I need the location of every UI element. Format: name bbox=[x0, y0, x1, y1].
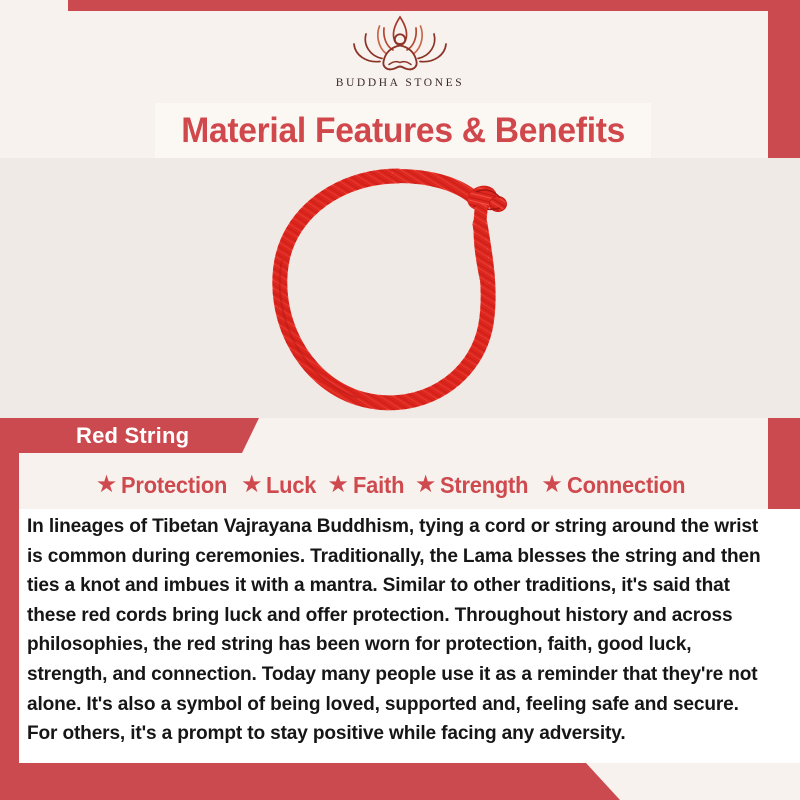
star-icon: ★ bbox=[241, 473, 263, 497]
red-string-bracelet-image bbox=[230, 158, 570, 422]
page-title-band: Material Features & Benefits bbox=[155, 103, 651, 158]
star-icon: ★ bbox=[415, 473, 437, 497]
lotus-meditation-icon bbox=[336, 14, 464, 76]
feature-label: Strength bbox=[440, 472, 528, 499]
feature-item-connection: ★ Connection bbox=[541, 472, 691, 499]
feature-list: ★ Protection ★ Luck ★ Faith ★ Strength ★… bbox=[19, 463, 768, 508]
brand-wordmark: BUDDHA STONES bbox=[336, 77, 464, 89]
feature-item-protection: ★ Protection bbox=[96, 472, 233, 499]
feature-item-faith: ★ Faith bbox=[327, 472, 406, 499]
poster-canvas: BUDDHA STONES Material Features & Benefi… bbox=[0, 0, 800, 800]
feature-label: Protection bbox=[121, 472, 227, 499]
feature-label: Faith bbox=[353, 472, 404, 499]
product-name-label: Red String bbox=[19, 423, 189, 449]
description-panel: In lineages of Tibetan Vajrayana Buddhis… bbox=[19, 509, 800, 763]
feature-label: Connection bbox=[567, 472, 685, 499]
feature-item-luck: ★ Luck bbox=[241, 472, 319, 499]
decor-bottom-bar bbox=[0, 763, 620, 800]
star-icon: ★ bbox=[541, 473, 563, 497]
product-photo-panel bbox=[0, 158, 800, 418]
feature-label: Luck bbox=[266, 472, 316, 499]
brand-logo: BUDDHA STONES bbox=[0, 14, 800, 98]
product-name-banner: Red String bbox=[19, 418, 259, 453]
decor-top-bar bbox=[68, 0, 800, 11]
feature-item-strength: ★ Strength bbox=[415, 472, 533, 499]
decor-left-edge bbox=[0, 452, 19, 800]
page-title: Material Features & Benefits bbox=[181, 111, 625, 151]
star-icon: ★ bbox=[96, 473, 118, 497]
star-icon: ★ bbox=[327, 473, 349, 497]
description-text: In lineages of Tibetan Vajrayana Buddhis… bbox=[27, 512, 772, 749]
